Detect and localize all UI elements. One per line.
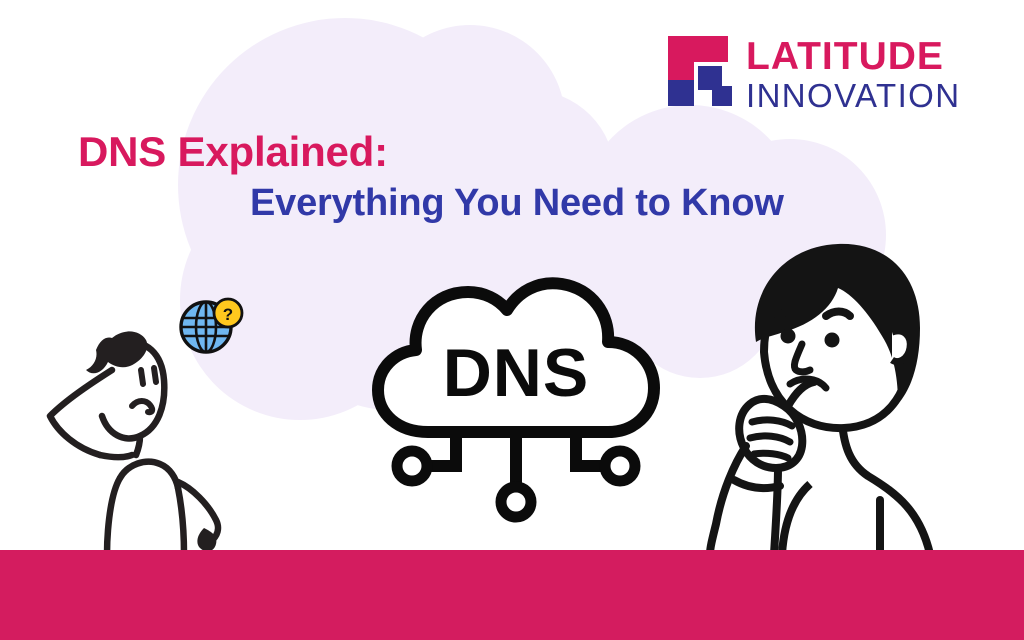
node-left bbox=[397, 451, 427, 481]
logo-mark-icon bbox=[668, 36, 736, 106]
hair-tuft bbox=[86, 331, 147, 373]
dns-label: DNS bbox=[443, 335, 590, 411]
question-mark-glyph: ? bbox=[223, 305, 233, 324]
page-subtitle: Everything You Need to Know bbox=[250, 182, 784, 225]
bottom-accent-band bbox=[0, 550, 1024, 640]
logo-word-latitude: LATITUDE bbox=[746, 37, 960, 76]
page-title: DNS Explained: bbox=[78, 128, 388, 176]
thinking-person-illustration bbox=[692, 232, 982, 554]
globe-question-icon: ? bbox=[176, 296, 248, 356]
node-right bbox=[605, 451, 635, 481]
slide-canvas: LATITUDE INNOVATION DNS Explained: Every… bbox=[0, 0, 1024, 640]
logo-wordmark: LATITUDE INNOVATION bbox=[746, 36, 960, 112]
dns-cloud-icon: DNS bbox=[368, 252, 664, 516]
node-center bbox=[501, 487, 531, 517]
logo-word-innovation: INNOVATION bbox=[746, 79, 960, 112]
brand-logo[interactable]: LATITUDE INNOVATION bbox=[668, 36, 960, 112]
